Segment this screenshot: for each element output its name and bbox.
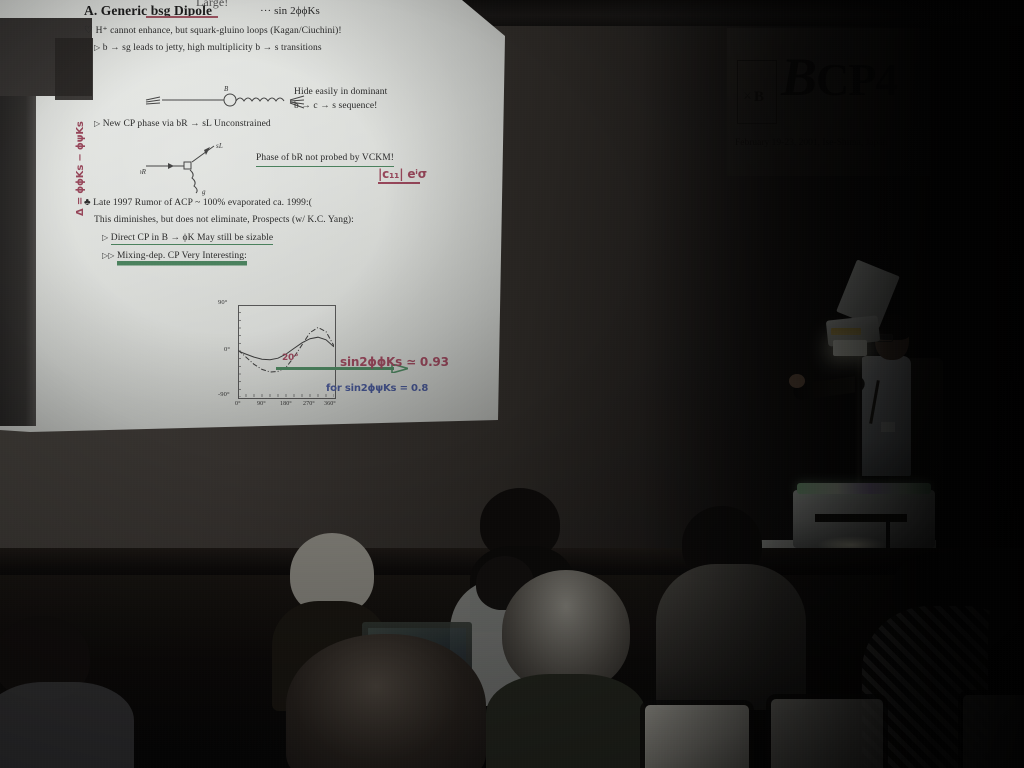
audience-person-front-curly — [286, 634, 486, 768]
feynman-svg-2: sL g bR — [140, 140, 260, 196]
slide-line-6-text: Late 1997 Rumor of ACP ~ 100% evaporated… — [93, 198, 312, 208]
plot-delta-vs-phase: 90° 0° -90° 0° 90° 180° 270° 360° — [218, 299, 338, 411]
slide-title-tail: ··· sin 2ϕϕKs — [260, 4, 320, 19]
annotation-ckm-amp: |c₁₁| eⁱσ — [378, 166, 427, 183]
audience-person-front-curly-head — [286, 634, 486, 768]
xtick-3: 270° — [303, 400, 315, 408]
slide-line-1-text: b → sg leads to jetty, high multiplicity… — [103, 43, 322, 53]
triangle-bullet-icon-4: ▷▷ — [102, 251, 115, 260]
audience-person-center-front — [486, 570, 646, 768]
triangle-bullet-icon: ▷ — [94, 43, 100, 52]
heart-bullet-icon: ♡ — [84, 25, 93, 36]
slide-line-8: ▷ Direct CP in B → ϕK May still be sizab… — [102, 232, 273, 245]
audience-person-center-front-body — [486, 674, 646, 768]
slide-title-underline — [146, 16, 218, 18]
svg-text:B: B — [224, 86, 229, 93]
slide-line-5: Phase of bR not probed by VCKM! — [256, 152, 394, 167]
ytick-mid: 0° — [224, 346, 230, 355]
slide-line-4: ▷ New CP phase via bR → sL Unconstrained — [94, 118, 271, 131]
svg-text:bR: bR — [140, 168, 147, 176]
ytick-top: 90° — [218, 299, 227, 308]
svg-text:sL: sL — [216, 142, 223, 150]
slide-line-2: Hide easily in dominant — [294, 86, 387, 99]
triangle-bullet-icon-3: ▷ — [102, 233, 108, 242]
annotation-sin-value: sin2ϕϕKs ≃ 0.93 — [340, 354, 449, 371]
slide-line-6: ♣ Late 1997 Rumor of ACP ~ 100% evaporat… — [84, 196, 312, 210]
slide-line-3: b → c → s sequence! — [294, 100, 377, 113]
xtick-4: 360° — [324, 400, 336, 408]
projection-screen: Large! A. Generic bsg Dipole ··· sin 2ϕϕ… — [0, 0, 505, 437]
presentation-photo: Large! A. Generic bsg Dipole ··· sin 2ϕϕ… — [0, 0, 1024, 768]
annotation-delta-definition: Δ = ϕϕKs − ϕψKs — [74, 121, 88, 216]
audience-person-front-left — [0, 616, 134, 768]
slide-line-7: This diminishes, but does not eliminate,… — [94, 214, 354, 227]
slide-content: Large! A. Generic bsg Dipole ··· sin 2ϕϕ… — [78, 0, 478, 430]
slide-line-4-text: New CP phase via bR → sL Unconstrained — [103, 119, 271, 129]
slide-line-0: ♡ H⁺ cannot enhance, but squark-gluino l… — [84, 24, 342, 38]
xtick-1: 90° — [257, 400, 266, 408]
xtick-0: 0° — [235, 400, 241, 408]
right-darkness-overlay — [640, 0, 1024, 768]
slide-line-1: ▷ b → sg leads to jetty, high multiplici… — [94, 42, 322, 55]
feynman-diagram-bR-sL: sL g bR — [140, 140, 260, 196]
audience-person-front-left-body — [0, 682, 134, 768]
screen-left-shadow — [0, 96, 36, 426]
xtick-2: 180° — [280, 400, 292, 408]
annotation-ckm-underline — [378, 182, 420, 184]
slide-line-0-text: H⁺ cannot enhance, but squark-gluino loo… — [96, 26, 342, 36]
annotation-for-value: for sin2ϕψKs = 0.8 — [326, 382, 428, 396]
slide-line-9-text: Mixing-dep. CP Very Interesting: — [117, 251, 247, 261]
slide-line-9: ▷▷ Mixing-dep. CP Very Interesting: — [102, 250, 247, 263]
svg-text:g: g — [202, 188, 206, 196]
annotation-angle-20: 20° — [282, 352, 298, 364]
plot-curves — [238, 305, 334, 397]
slide-line-8-text: Direct CP in B → ϕK May still be sizable — [111, 233, 273, 245]
ytick-bottom: -90° — [218, 391, 230, 400]
triangle-bullet-icon-2: ▷ — [94, 119, 100, 128]
